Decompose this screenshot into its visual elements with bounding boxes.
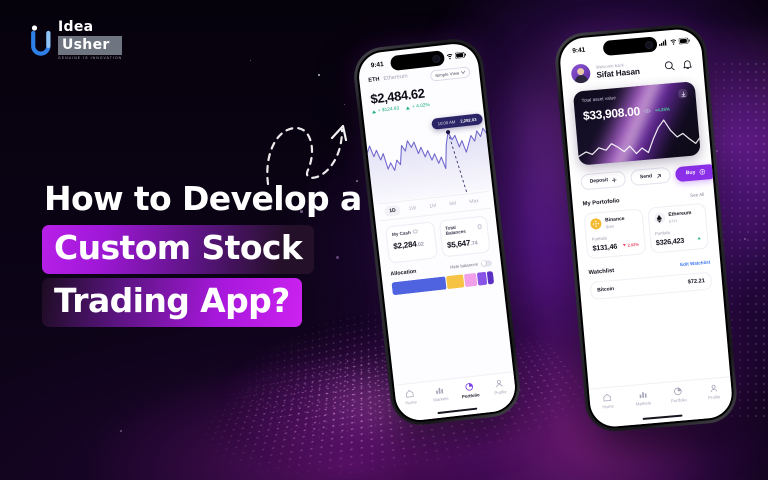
allocation-segment-5 xyxy=(487,270,494,284)
page-title: How to Develop a Custom Stock Trading Ap… xyxy=(42,178,364,331)
eye-icon[interactable] xyxy=(644,108,651,114)
nav-item-profile[interactable]: Profile xyxy=(485,377,515,396)
ticker-identity: ETH Ethereum xyxy=(368,73,408,83)
user-greeting: Welcome back Sifat Hasan xyxy=(596,61,641,80)
ethereum-values: $326,423 xyxy=(655,234,702,247)
chevron-down-icon xyxy=(461,71,465,74)
total-asset-card[interactable]: Total asset value $33,908.00 +4.25% xyxy=(573,81,701,165)
change-percent-value: + 4.02% xyxy=(412,103,430,110)
person-icon xyxy=(709,383,719,393)
bottom-nav-left[interactable]: Home Markets Portfolio Profile xyxy=(394,371,518,422)
buy-button[interactable]: Buy xyxy=(674,163,717,182)
change-absolute: + $124.93 xyxy=(372,106,400,114)
nav-item-home[interactable]: Home xyxy=(395,387,425,406)
info-icon-2[interactable] xyxy=(477,224,482,229)
person-icon xyxy=(495,378,505,388)
u-logo-icon xyxy=(28,23,54,57)
info-icon[interactable] xyxy=(412,229,417,234)
ethereum-names: Ethereum ETH xyxy=(668,210,692,223)
search-icon[interactable] xyxy=(663,60,675,72)
nav-label-profile-right: Profile xyxy=(708,394,721,400)
up-triangle-icon-2 xyxy=(406,106,410,109)
binance-amount: $131,46 xyxy=(592,241,617,252)
arrow-up-icon xyxy=(696,236,700,240)
hide-balances-control[interactable]: Hide balances xyxy=(450,260,492,271)
nav-label-portfolio: Portfolio xyxy=(462,392,480,399)
range-tab-1d[interactable]: 1D xyxy=(384,205,401,217)
home-indicator-left xyxy=(437,407,477,414)
nav-label-profile: Profile xyxy=(494,389,507,395)
nav-item-markets[interactable]: Markets xyxy=(425,384,455,403)
nav-label-home: Home xyxy=(405,399,417,405)
brand-logo-line1: Idea xyxy=(58,20,122,34)
poster-canvas: Idea Usher GENUINE IS INNOVATION How to … xyxy=(0,0,768,480)
avatar-head xyxy=(577,67,585,75)
front-camera-icon xyxy=(432,54,441,63)
nav-item-markets-right[interactable]: Markets xyxy=(625,388,660,407)
ethereum-change xyxy=(696,236,702,240)
brand-logo-line2: Usher xyxy=(62,37,110,53)
phone-bezel-right: 9:41 xyxy=(556,25,736,430)
arrow-up-right-icon xyxy=(656,173,661,178)
buy-label: Buy xyxy=(686,169,696,176)
cellular-icon xyxy=(659,39,667,46)
range-tab-max[interactable]: Max xyxy=(464,195,484,207)
my-cash-card[interactable]: My Cash $2,284.02 xyxy=(385,221,437,263)
bottom-nav-right[interactable]: Home Markets Portfolio Profile xyxy=(589,376,734,428)
wifi-icon xyxy=(669,39,676,46)
portfolio-cards: Binance BNB Portfolio $131,46 2.02% xyxy=(583,203,709,259)
portfolio-card-ethereum[interactable]: Ethereum ETH Portfolio $326,423 xyxy=(647,203,709,253)
tooltip-value: 2,292.03 xyxy=(460,116,477,123)
header-actions xyxy=(663,58,693,71)
change-absolute-value: + $124.93 xyxy=(378,106,400,113)
plus-circle-icon xyxy=(699,169,706,176)
binance-values: $131,46 2.02% xyxy=(592,239,639,252)
pie-chart-icon xyxy=(673,386,683,396)
ticker-symbol: ETH xyxy=(368,77,380,84)
binance-icon xyxy=(590,218,602,230)
nav-label-home-right: Home xyxy=(602,403,614,409)
watchlist-name: Bitcoin xyxy=(597,286,614,293)
my-cash-header: My Cash xyxy=(392,227,429,236)
brand-logo-line2-bg: Usher xyxy=(58,36,122,55)
view-selector-dropdown[interactable]: Simple View xyxy=(430,66,471,81)
watchlist-price: $72.21 xyxy=(688,278,706,285)
bell-icon[interactable] xyxy=(681,58,693,70)
headline-text-2: Custom Stock xyxy=(42,225,314,274)
my-cash-label: My Cash xyxy=(392,229,411,236)
home-icon xyxy=(405,389,415,399)
up-triangle-icon xyxy=(372,110,376,113)
binance-change: 2.02% xyxy=(622,241,639,247)
view-selector-label: Simple View xyxy=(435,70,459,78)
range-tab-6m[interactable]: 6M xyxy=(444,198,462,210)
portfolio-see-all-link[interactable]: See All xyxy=(690,191,705,197)
send-label: Send xyxy=(640,173,653,180)
total-balances-label: Total Balances xyxy=(445,222,476,235)
edit-watchlist-link[interactable]: Edit Watchlist xyxy=(680,260,711,268)
status-icons-right xyxy=(659,37,690,46)
ethereum-amount: $326,423 xyxy=(655,235,684,246)
send-button[interactable]: Send xyxy=(630,167,670,186)
binance-change-value: 2.02% xyxy=(627,241,639,247)
my-cash-value: $2,284.02 xyxy=(393,237,430,250)
toggle-off-icon[interactable] xyxy=(481,260,493,267)
total-balances-card[interactable]: Total Balances $5,647.74 xyxy=(438,215,490,257)
nav-item-home-right[interactable]: Home xyxy=(590,392,625,411)
my-cash-amount: $2,284 xyxy=(393,239,417,251)
front-camera-icon-2 xyxy=(645,40,654,49)
brand-logo[interactable]: Idea Usher GENUINE IS INNOVATION xyxy=(28,20,122,60)
change-percent: + 4.02% xyxy=(406,103,430,111)
headline-line-1: How to Develop a xyxy=(42,178,364,221)
brand-tagline: GENUINE IS INNOVATION xyxy=(58,57,122,60)
total-balances-header: Total Balances xyxy=(445,221,482,235)
avatar-body xyxy=(574,75,588,84)
range-tab-1w[interactable]: 1W xyxy=(403,202,422,214)
right-phone-content: Welcome back Sifat Hasan xyxy=(558,28,722,301)
headline-text-3: Trading App? xyxy=(42,278,302,327)
ethereum-header: Ethereum ETH xyxy=(653,209,700,225)
bar-chart-icon xyxy=(638,390,648,400)
bar-chart-icon xyxy=(435,385,445,395)
plus-icon xyxy=(612,177,617,182)
nav-item-portfolio-right[interactable]: Portfolio xyxy=(661,385,696,404)
nav-label-portfolio-right: Portfolio xyxy=(671,397,687,403)
portfolio-title: My Portofolio xyxy=(582,198,619,207)
quick-actions: Deposit Send Buy xyxy=(580,164,703,191)
screen-right: 9:41 xyxy=(558,28,733,429)
user-header: Welcome back Sifat Hasan xyxy=(571,54,694,84)
total-balances-amount: $5,647 xyxy=(447,238,471,250)
binance-header: Binance BNB xyxy=(590,215,637,231)
home-icon xyxy=(602,393,612,403)
headline-line-2: Custom Stock xyxy=(42,225,364,274)
price-chart[interactable]: 10:00 AM 2,292.03 xyxy=(356,104,501,203)
watchlist-title: Watchlist xyxy=(588,267,614,275)
watchlist-row-bitcoin[interactable]: Bitcoin $72.21 xyxy=(589,271,712,300)
range-tab-1m[interactable]: 1M xyxy=(424,200,442,212)
asset-card-label: Total asset value xyxy=(581,95,616,103)
avatar[interactable] xyxy=(571,63,592,84)
binance-symbol: BNB xyxy=(605,222,625,229)
deposit-label: Deposit xyxy=(589,177,608,185)
hide-balances-label: Hide balances xyxy=(450,262,478,270)
allocation-segment-1 xyxy=(391,276,446,295)
battery-icon xyxy=(455,52,467,59)
allocation-segment-4 xyxy=(477,271,487,285)
my-cash-cents: .02 xyxy=(416,241,424,248)
nav-item-portfolio[interactable]: Portfolio xyxy=(455,381,485,400)
status-time: 9:41 xyxy=(370,60,384,68)
portfolio-card-binance[interactable]: Binance BNB Portfolio $131,46 2.02% xyxy=(583,208,645,258)
status-time-right: 9:41 xyxy=(572,46,586,54)
pie-chart-icon xyxy=(465,382,475,392)
wifi-icon xyxy=(445,53,453,60)
headline-line-3: Trading App? xyxy=(42,278,364,327)
headline-text-1: How to Develop a xyxy=(42,178,364,221)
brand-wordmark: Idea Usher GENUINE IS INNOVATION xyxy=(58,20,122,60)
ethereum-icon xyxy=(653,213,665,225)
battery-icon xyxy=(679,37,690,44)
binance-names: Binance BNB xyxy=(605,216,625,229)
allocation-label: Allocation xyxy=(390,268,417,277)
total-balances-value: $5,647.74 xyxy=(447,236,484,249)
total-balances-cents: .74 xyxy=(470,240,478,247)
nav-label-markets-right: Markets xyxy=(636,400,652,406)
deposit-button[interactable]: Deposit xyxy=(580,171,627,191)
allocation-segment-2 xyxy=(446,274,464,289)
arrow-down-icon xyxy=(622,243,626,247)
nav-label-markets: Markets xyxy=(433,396,449,403)
allocation-segment-3 xyxy=(464,272,477,286)
ticker-name: Ethereum xyxy=(383,73,408,82)
total-asset-change: +4.25% xyxy=(655,106,670,112)
tooltip-time: 10:00 AM xyxy=(437,119,455,126)
nav-item-profile-right[interactable]: Profile xyxy=(696,382,731,401)
home-indicator-right xyxy=(643,414,683,420)
